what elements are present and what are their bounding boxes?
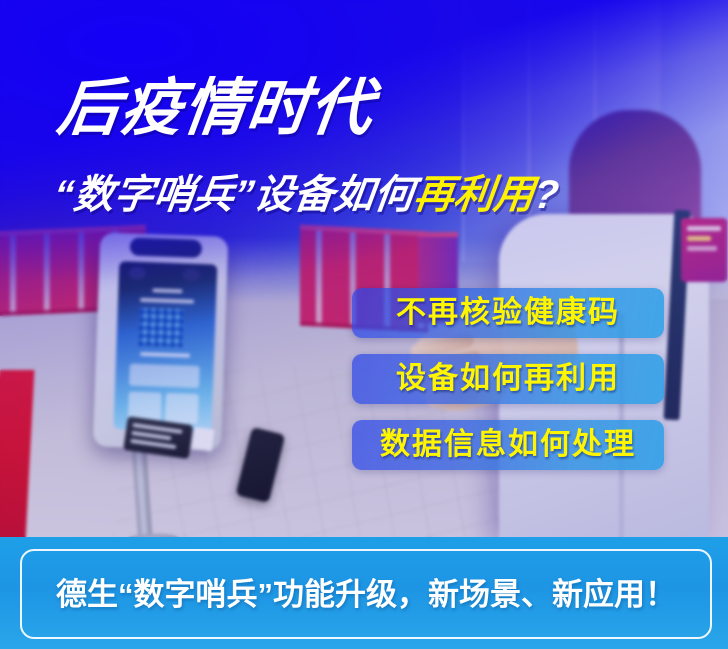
page-subtitle: “数字哨兵”设备如何再利用? xyxy=(52,175,561,215)
page-title: 后疫情时代 xyxy=(54,78,377,140)
bottom-banner: 德生“数字哨兵”功能升级，新场景、新应用！ xyxy=(0,537,728,649)
bullet-list: 不再核验健康码 设备如何再利用 数据信息如何处理 xyxy=(352,288,666,486)
subtitle-highlight: 再利用 xyxy=(411,173,536,217)
subtitle-question-mark: ? xyxy=(531,173,561,217)
bullet-label: 数据信息如何处理 xyxy=(380,430,636,460)
bullet-label: 不再核验健康码 xyxy=(396,298,620,328)
poster-root: 后疫情时代 “数字哨兵”设备如何再利用? 不再核验健康码 设备如何再利用 数据信… xyxy=(0,0,728,649)
bullet-pill-1[interactable]: 不再核验健康码 xyxy=(352,288,664,338)
banner-text: 德生“数字哨兵”功能升级，新场景、新应用！ xyxy=(56,579,676,610)
bullet-pill-2[interactable]: 设备如何再利用 xyxy=(352,354,664,404)
subtitle-prefix: “数字哨兵”设备如何 xyxy=(51,173,416,217)
bullet-label: 设备如何再利用 xyxy=(396,364,620,394)
banner-frame: 德生“数字哨兵”功能升级，新场景、新应用！ xyxy=(20,549,712,639)
bullet-pill-3[interactable]: 数据信息如何处理 xyxy=(352,420,664,470)
headline-block: 后疫情时代 “数字哨兵”设备如何再利用? xyxy=(0,0,728,240)
